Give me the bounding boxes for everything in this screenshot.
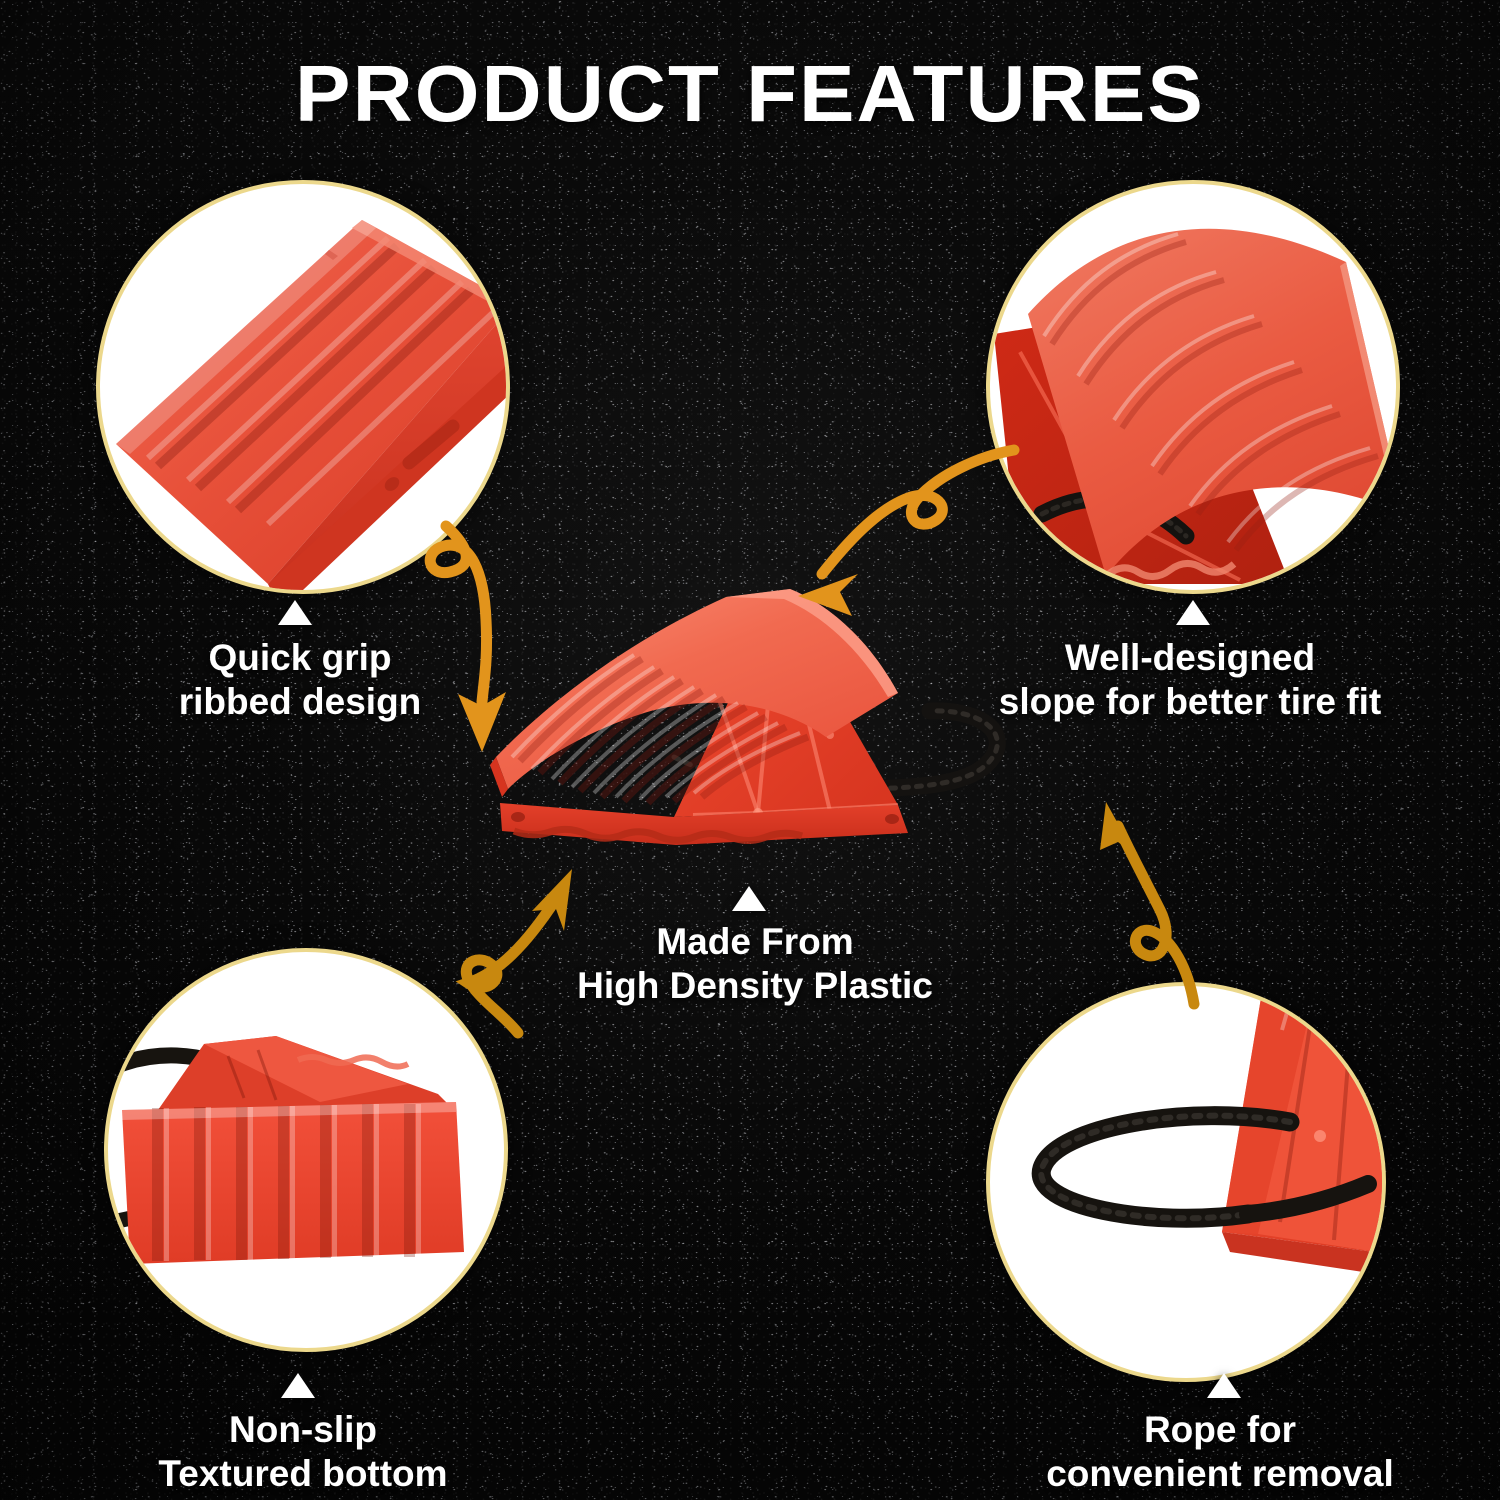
- marker-high-density-plastic: [732, 886, 766, 911]
- arrow-rope: [1090, 790, 1250, 1010]
- label-rope-line2: convenient removal: [975, 1452, 1465, 1496]
- label-slope-line1: Well-designed: [940, 636, 1440, 680]
- label-nonslip-line1: Non-slip: [58, 1408, 548, 1452]
- marker-quick-grip: [278, 600, 312, 625]
- label-plastic-line1: Made From: [520, 920, 990, 964]
- callout-bottom-right: [986, 982, 1386, 1382]
- label-nonslip-line2: Textured bottom: [58, 1452, 548, 1496]
- label-quick-grip-line1: Quick grip: [55, 636, 545, 680]
- callout-bottom-left: [104, 948, 508, 1352]
- label-well-designed-slope: Well-designed slope for better tire fit: [940, 636, 1440, 723]
- callout-top-right: [986, 180, 1400, 594]
- label-quick-grip-line2: ribbed design: [55, 680, 545, 724]
- marker-rope-removal: [1207, 1373, 1241, 1398]
- photo-textured-bottom: [108, 952, 504, 1348]
- label-rope-removal: Rope for convenient removal: [975, 1408, 1465, 1495]
- label-rope-line1: Rope for: [975, 1408, 1465, 1452]
- label-slope-line2: slope for better tire fit: [940, 680, 1440, 724]
- slope-closeup-illustration: [990, 184, 1400, 594]
- arrow-slope: [790, 440, 1020, 630]
- marker-non-slip-bottom: [281, 1373, 315, 1398]
- label-quick-grip: Quick grip ribbed design: [55, 636, 545, 723]
- marker-well-designed-slope: [1176, 600, 1210, 625]
- photo-rope-loop: [990, 986, 1382, 1378]
- label-high-density-plastic: Made From High Density Plastic: [520, 920, 990, 1007]
- rope-loop-illustration: [990, 986, 1386, 1382]
- textured-bottom-illustration: [108, 952, 508, 1352]
- page-title: PRODUCT FEATURES: [0, 48, 1500, 140]
- photo-sloped-ribbed-closeup: [990, 184, 1396, 590]
- label-non-slip-bottom: Non-slip Textured bottom: [58, 1408, 548, 1495]
- label-plastic-line2: High Density Plastic: [520, 964, 990, 1008]
